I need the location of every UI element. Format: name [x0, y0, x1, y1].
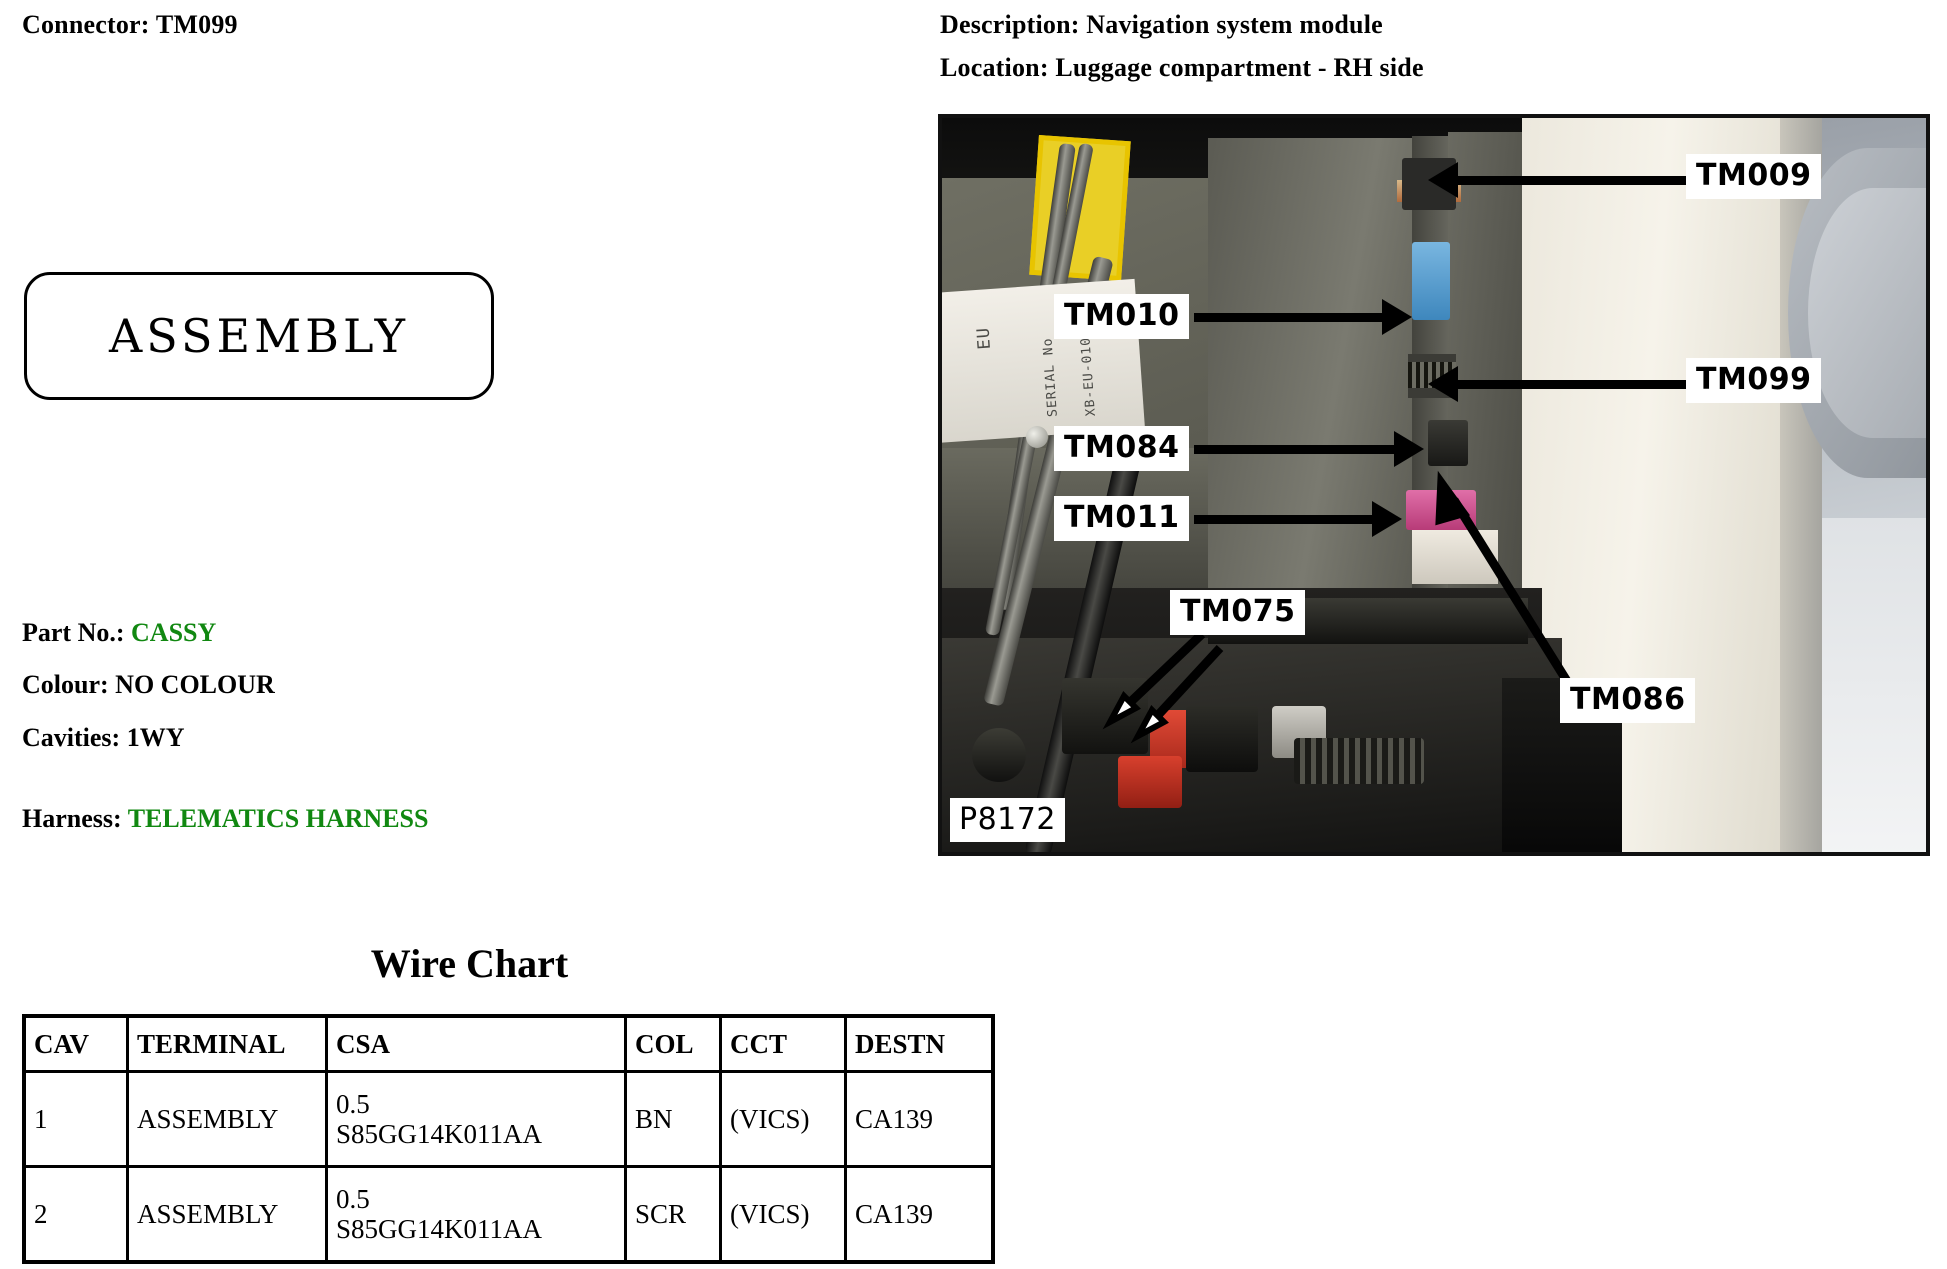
- arrow-tm075-pair: [1052, 626, 1232, 756]
- cell-destn: CA139: [846, 1072, 994, 1167]
- detail-colour-label: Colour:: [22, 670, 115, 699]
- detail-part-no-value: CASSY: [131, 618, 216, 647]
- cell-destn: CA139: [846, 1167, 994, 1263]
- arrow-line-tm009: [1458, 176, 1690, 185]
- column-header-cav: CAV: [24, 1016, 128, 1072]
- cell-cct: (VICS): [721, 1072, 846, 1167]
- wire-chart-table: CAV TERMINAL CSA COL CCT DESTN 1 ASSEMBL…: [22, 1014, 995, 1264]
- photo-connector-tm084: [1428, 420, 1468, 466]
- cell-csa-size: 0.5: [336, 1089, 616, 1119]
- detail-colour-value: NO COLOUR: [115, 670, 275, 699]
- callout-tm009: TM009: [1686, 154, 1821, 199]
- photo-connector-tm010: [1412, 242, 1450, 320]
- detail-part-no-label: Part No.:: [22, 618, 131, 647]
- photo-module-body: [1208, 138, 1432, 638]
- photo-screw-head: [1026, 426, 1048, 448]
- detail-cavities: Cavities: 1WY: [22, 725, 184, 751]
- arrow-line-tm010: [1194, 313, 1386, 322]
- cell-csa-size: 0.5: [336, 1184, 616, 1214]
- cell-csa-part: S85GG14K011AA: [336, 1214, 616, 1244]
- column-header-terminal: TERMINAL: [128, 1016, 327, 1072]
- callout-tm011: TM011: [1054, 496, 1189, 541]
- connector-location-photo: XB-EU-010 SERIAL No EU TM009 TM010 TM099…: [938, 114, 1930, 856]
- cell-csa: 0.5 S85GG14K011AA: [327, 1072, 626, 1167]
- arrow-head-tm011: [1372, 501, 1402, 537]
- detail-colour: Colour: NO COLOUR: [22, 672, 275, 698]
- cell-cct: (VICS): [721, 1167, 846, 1263]
- detail-harness: Harness: TELEMATICS HARNESS: [22, 806, 428, 832]
- photo-id-badge: P8172: [950, 798, 1065, 842]
- wire-chart-title: Wire Chart: [22, 940, 917, 987]
- arrow-head-tm099: [1428, 366, 1458, 402]
- photo-background-right-lower: [1822, 518, 1930, 856]
- arrow-head-tm084: [1394, 431, 1424, 467]
- photo-harness-connector-7: [972, 728, 1026, 782]
- cell-terminal: ASSEMBLY: [128, 1072, 327, 1167]
- cell-csa: 0.5 S85GG14K011AA: [327, 1167, 626, 1263]
- arrow-tm086: [1410, 470, 1600, 700]
- arrow-head-tm009: [1428, 162, 1458, 198]
- arrow-line-tm099: [1458, 380, 1690, 389]
- cell-col: SCR: [626, 1167, 721, 1263]
- cell-csa-part: S85GG14K011AA: [336, 1119, 616, 1149]
- cell-col: BN: [626, 1072, 721, 1167]
- photo-harness-connector-6: [1294, 738, 1424, 784]
- photo-sticker-eu-text: EU: [974, 326, 996, 350]
- callout-tm075: TM075: [1170, 590, 1305, 635]
- callout-tm010: TM010: [1054, 294, 1189, 339]
- assembly-label: ASSEMBLY: [27, 309, 491, 363]
- photo-sticker-serial-text: SERIAL No: [1040, 337, 1061, 417]
- callout-tm099: TM099: [1686, 358, 1821, 403]
- description-heading: Description: Navigation system module: [940, 12, 1383, 38]
- detail-part-no: Part No.: CASSY: [22, 620, 216, 646]
- callout-tm086: TM086: [1560, 678, 1695, 723]
- table-header-row: CAV TERMINAL CSA COL CCT DESTN: [24, 1016, 993, 1072]
- photo-harness-connector-4: [1118, 756, 1182, 808]
- column-header-cct: CCT: [721, 1016, 846, 1072]
- arrow-head-tm010: [1382, 299, 1412, 335]
- arrow-line-tm084: [1194, 445, 1398, 454]
- cell-cav: 2: [24, 1167, 128, 1263]
- connector-assembly-box: ASSEMBLY: [24, 272, 494, 400]
- location-heading: Location: Luggage compartment - RH side: [940, 55, 1424, 81]
- connector-heading: Connector: TM099: [22, 12, 238, 38]
- table-row: 2 ASSEMBLY 0.5 S85GG14K011AA SCR (VICS) …: [24, 1167, 993, 1263]
- photo-wheel-arch-inner: [1808, 188, 1930, 438]
- detail-harness-label: Harness:: [22, 804, 128, 833]
- column-header-csa: CSA: [327, 1016, 626, 1072]
- cell-terminal: ASSEMBLY: [128, 1167, 327, 1263]
- column-header-destn: DESTN: [846, 1016, 994, 1072]
- detail-cavities-value: 1WY: [127, 723, 185, 752]
- photo-sticker-part-text: XB-EU-010: [1078, 336, 1099, 416]
- table-row: 1 ASSEMBLY 0.5 S85GG14K011AA BN (VICS) C…: [24, 1072, 993, 1167]
- column-header-col: COL: [626, 1016, 721, 1072]
- cell-cav: 1: [24, 1072, 128, 1167]
- detail-harness-value: TELEMATICS HARNESS: [128, 804, 429, 833]
- callout-tm084: TM084: [1054, 426, 1189, 471]
- arrow-line-tm011: [1194, 515, 1376, 524]
- detail-cavities-label: Cavities:: [22, 723, 127, 752]
